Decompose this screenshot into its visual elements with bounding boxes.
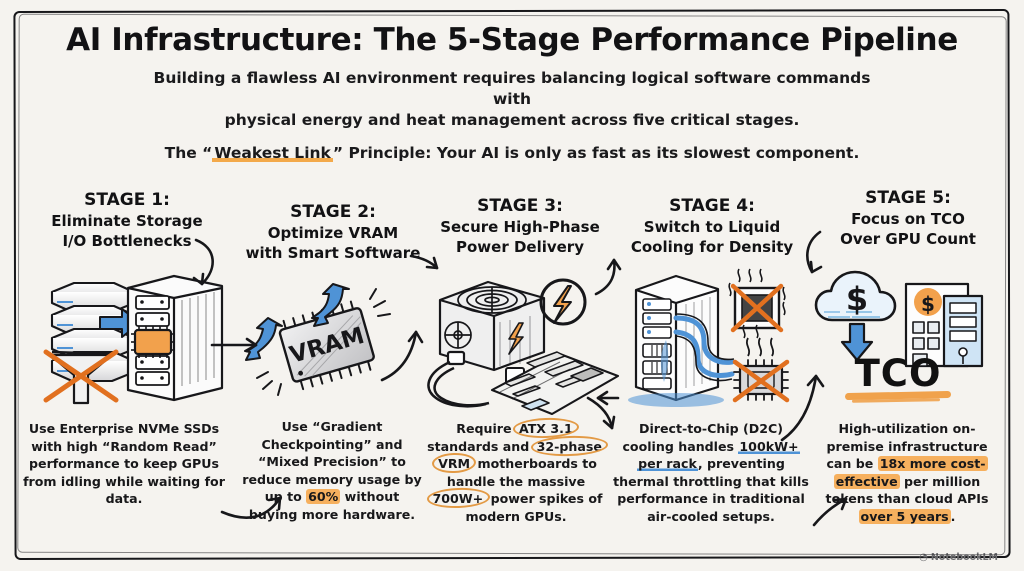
arrow-2top-to-3 (411, 256, 437, 268)
infographic-canvas: AI Infrastructure: The 5-Stage Performan… (0, 0, 1024, 571)
arrow-stage5-head (811, 262, 821, 272)
illustrations-layer: VRAM (0, 0, 1024, 571)
stage-title-5-line1: Focus on TCO (818, 209, 998, 229)
blue-flow-arrow-icon (100, 309, 140, 337)
caption-3-part-7: 700W+ (430, 491, 487, 506)
notebooklm-watermark: ◔ NotebookLM (919, 552, 998, 563)
stage-label-2: STAGE 2: (238, 202, 428, 223)
stage-heading-1: STAGE 1: Eliminate Storage I/O Bottlenec… (22, 190, 232, 251)
arrow-3-to-4-top (596, 260, 614, 294)
blue-double-arrow-left-icon (245, 318, 282, 360)
arrow-2top-to-3-head (427, 258, 437, 268)
subtitle-line-1: Building a flawless AI environment requi… (145, 68, 879, 110)
stage-label-4: STAGE 4: (614, 196, 810, 217)
arrow-3-to-4-head (604, 417, 614, 428)
arrow-4-to-5-head (808, 376, 823, 386)
caption-3-part-3: 32-phase (534, 439, 605, 454)
illustration-stage-5: $ $ (816, 272, 982, 366)
principle-highlight: Weakest Link (212, 144, 333, 162)
caption-5-part-3: over 5 years (859, 509, 951, 524)
caption-stage-4: Direct-to-Chip (D2C) cooling handles 100… (612, 420, 810, 525)
arrow-3-to-4 (588, 398, 612, 428)
bottleneck-funnel-crossed-icon (46, 352, 116, 403)
stage-title-1-line1: Eliminate Storage (22, 211, 232, 231)
illustration-stage-4 (628, 269, 788, 407)
stage-label-3: STAGE 3: (424, 196, 616, 217)
arrow-stage4-left-head (598, 392, 607, 404)
arrow-into-tco (814, 499, 846, 525)
arrow-3-to-4-top-head (608, 260, 620, 269)
caption-stage-3: Require ATX 3.1 standards and 32-phase V… (420, 420, 612, 525)
stage-title-1-line2: I/O Bottlenecks (22, 231, 232, 251)
caption-5-part-4: . (951, 509, 956, 524)
arrow-stage1-curve (196, 240, 213, 284)
principle-prefix: The “ (165, 144, 213, 162)
stage-heading-3: STAGE 3: Secure High-Phase Power Deliver… (424, 196, 616, 257)
arrow-into-tco-head (835, 499, 846, 509)
caption-2-part-0: Use “Gradient Checkpointing” and “Mixed … (242, 419, 422, 504)
caption-stage-5: High-utilization on-premise infrastructu… (812, 420, 1002, 525)
server-rack-icon (636, 276, 718, 401)
caption-stage-2: Use “Gradient Checkpointing” and “Mixed … (240, 418, 424, 523)
arrow-2-caption-head (269, 498, 280, 509)
cable-connector-icon (506, 368, 524, 384)
stage-heading-2: STAGE 2: Optimize VRAM with Smart Softwa… (238, 202, 428, 263)
tco-underline-stroke (845, 391, 951, 400)
caption-5-part-1: 18x more cost-effective (834, 456, 988, 489)
tube-outline (676, 314, 734, 380)
illustration-stage-2: VRAM (245, 284, 390, 395)
psu-icon (440, 282, 544, 370)
caption-4-part-0: Direct-to-Chip (D2C) cooling handles (622, 421, 783, 454)
stage-heading-4: STAGE 4: Switch to Liquid Cooling for De… (614, 196, 810, 257)
stage-title-3-line2: Power Delivery (424, 237, 616, 257)
arrow-2-to-3 (382, 332, 416, 380)
caption-2-part-2: without buying more hardware. (249, 489, 415, 522)
vram-chip-icon: VRAM (277, 300, 377, 391)
caption-3-part-2: standards and (427, 439, 533, 454)
subtitle: Building a flawless AI environment requi… (145, 68, 879, 131)
cloud-cost-icon: $ (816, 272, 895, 320)
stage-title-3-line1: Secure High-Phase (424, 217, 616, 237)
gpu-chip-icon (131, 326, 175, 358)
caption-3-part-8: power spikes of modern GPUs. (466, 491, 603, 524)
caption-3-part-5: VRM (435, 456, 473, 471)
motherboard-icon (492, 352, 618, 414)
tco-word: TCO (838, 352, 958, 395)
ssd-stack-icon (52, 283, 134, 381)
stage-title-4-line1: Switch to Liquid (614, 217, 810, 237)
stage-title-2-line2: with Smart Software (238, 243, 428, 263)
caption-3-part-6: motherboards to handle the massive (447, 456, 597, 489)
caption-1-part-0: Use Enterprise NVMe SSDs with high “Rand… (23, 421, 225, 506)
caption-5-part-0: High-utilization on-premise infrastructu… (826, 421, 987, 471)
caption-4-part-1: 100kW+ per rack (637, 439, 799, 472)
crossed-hot-chip-icon (734, 338, 788, 400)
principle-suffix: ” Principle: Your AI is only as fast as … (333, 144, 859, 162)
heat-waves-icon (747, 338, 773, 356)
blue-double-arrow-top-icon (312, 284, 349, 326)
page-title: AI Infrastructure: The 5-Stage Performan… (0, 22, 1024, 58)
datacenter-building-icon: $ (906, 284, 982, 366)
stage-title-2-line1: Optimize VRAM (238, 223, 428, 243)
caption-4-part-2: , preventing thermal throttling that kil… (613, 456, 809, 524)
blue-down-arrow-icon (842, 324, 872, 360)
arrow-2-caption-curve (222, 498, 280, 518)
lightning-badge-icon (541, 280, 585, 324)
caption-2-part-1: 60% (306, 489, 340, 504)
stage-heading-5: STAGE 5: Focus on TCO Over GPU Count (818, 188, 998, 249)
notebooklm-glyph-icon: ◔ (919, 552, 928, 563)
stage-label-5: STAGE 5: (818, 188, 998, 209)
weakest-link-principle: The “Weakest Link” Principle: Your AI is… (145, 144, 879, 162)
arrow-4-to-5 (782, 376, 816, 440)
stage-label-1: STAGE 1: (22, 190, 232, 211)
caption-5-part-2: per million tokens than cloud APIs (826, 474, 989, 507)
chip-spark-lines-icon (257, 289, 390, 395)
vram-chip-label: VRAM (287, 323, 367, 369)
cloud-dollar-symbol: $ (846, 280, 868, 318)
server-tower-icon (128, 276, 222, 400)
caption-stage-1: Use Enterprise NVMe SSDs with high “Rand… (18, 420, 230, 508)
arrow-1-to-2-head (247, 339, 256, 351)
coolant-tubes-icon (676, 318, 732, 375)
caption-3-part-1: ATX 3.1 (516, 421, 576, 436)
notebooklm-label: NotebookLM (931, 552, 998, 563)
coolant-puddle-icon (628, 340, 724, 407)
arrow-stage5-curve (807, 232, 820, 272)
illustration-stage-1 (46, 276, 222, 403)
stage-title-4-line2: Cooling for Density (614, 237, 810, 257)
caption-3-part-0: Require (456, 421, 516, 436)
arrow-2-to-3-head (409, 332, 422, 342)
arrow-stage1-head (194, 274, 203, 284)
crossed-hot-fan-icon (729, 269, 785, 338)
illustration-stage-3 (428, 280, 618, 414)
stage-title-5-line2: Over GPU Count (818, 229, 998, 249)
flow-arrows-layer (194, 232, 846, 525)
power-cable-icon (428, 362, 489, 406)
subtitle-line-2: physical energy and heat management acro… (145, 110, 879, 131)
tco-underline-stroke-2 (852, 398, 940, 403)
building-dollar-symbol: $ (921, 292, 935, 316)
